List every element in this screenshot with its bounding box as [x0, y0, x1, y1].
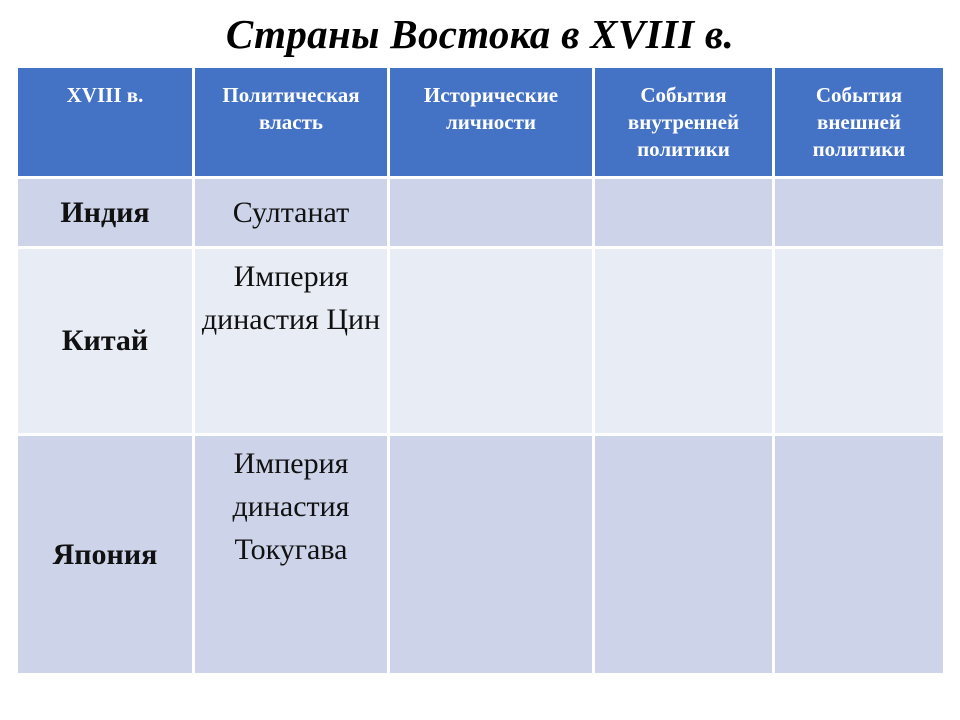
comparison-table-container: XVIII в. Политическая власть Исторически…	[18, 68, 943, 676]
table-header-row: XVIII в. Политическая власть Исторически…	[18, 68, 943, 179]
cell-india-political-power: Султанат	[195, 179, 390, 249]
table-row: Индия Султанат	[18, 179, 943, 249]
cell-japan-foreign-events[interactable]	[775, 436, 943, 676]
cell-china-political-power: Империя династия Цин	[195, 249, 390, 436]
cell-india-domestic-events[interactable]	[595, 179, 775, 249]
table-header: XVIII в. Политическая власть Исторически…	[18, 68, 943, 179]
slide-canvas: Страны Востока в XVIII в. XVIII в. Полит…	[0, 0, 960, 720]
row-label-india: Индия	[18, 179, 195, 249]
cell-japan-political-power: Империя династия Токугава	[195, 436, 390, 676]
row-label-china: Китай	[18, 249, 195, 436]
table-body: Индия Султанат Китай Империя династия Ци…	[18, 179, 943, 676]
column-header-historical-figures: Исторические личности	[390, 68, 595, 179]
column-header-century: XVIII в.	[18, 68, 195, 179]
column-header-political-power: Политическая власть	[195, 68, 390, 179]
column-header-foreign-events: События внешней политики	[775, 68, 943, 179]
cell-china-historical-figures[interactable]	[390, 249, 595, 436]
cell-japan-domestic-events[interactable]	[595, 436, 775, 676]
row-label-japan: Япония	[18, 436, 195, 676]
table-row: Япония Империя династия Токугава	[18, 436, 943, 676]
cell-india-foreign-events[interactable]	[775, 179, 943, 249]
cell-japan-historical-figures[interactable]	[390, 436, 595, 676]
cell-china-domestic-events[interactable]	[595, 249, 775, 436]
page-title: Страны Востока в XVIII в.	[0, 8, 960, 60]
comparison-table: XVIII в. Политическая власть Исторически…	[18, 68, 943, 676]
cell-china-foreign-events[interactable]	[775, 249, 943, 436]
table-row: Китай Империя династия Цин	[18, 249, 943, 436]
column-header-domestic-events: События внутренней политики	[595, 68, 775, 179]
cell-india-historical-figures[interactable]	[390, 179, 595, 249]
